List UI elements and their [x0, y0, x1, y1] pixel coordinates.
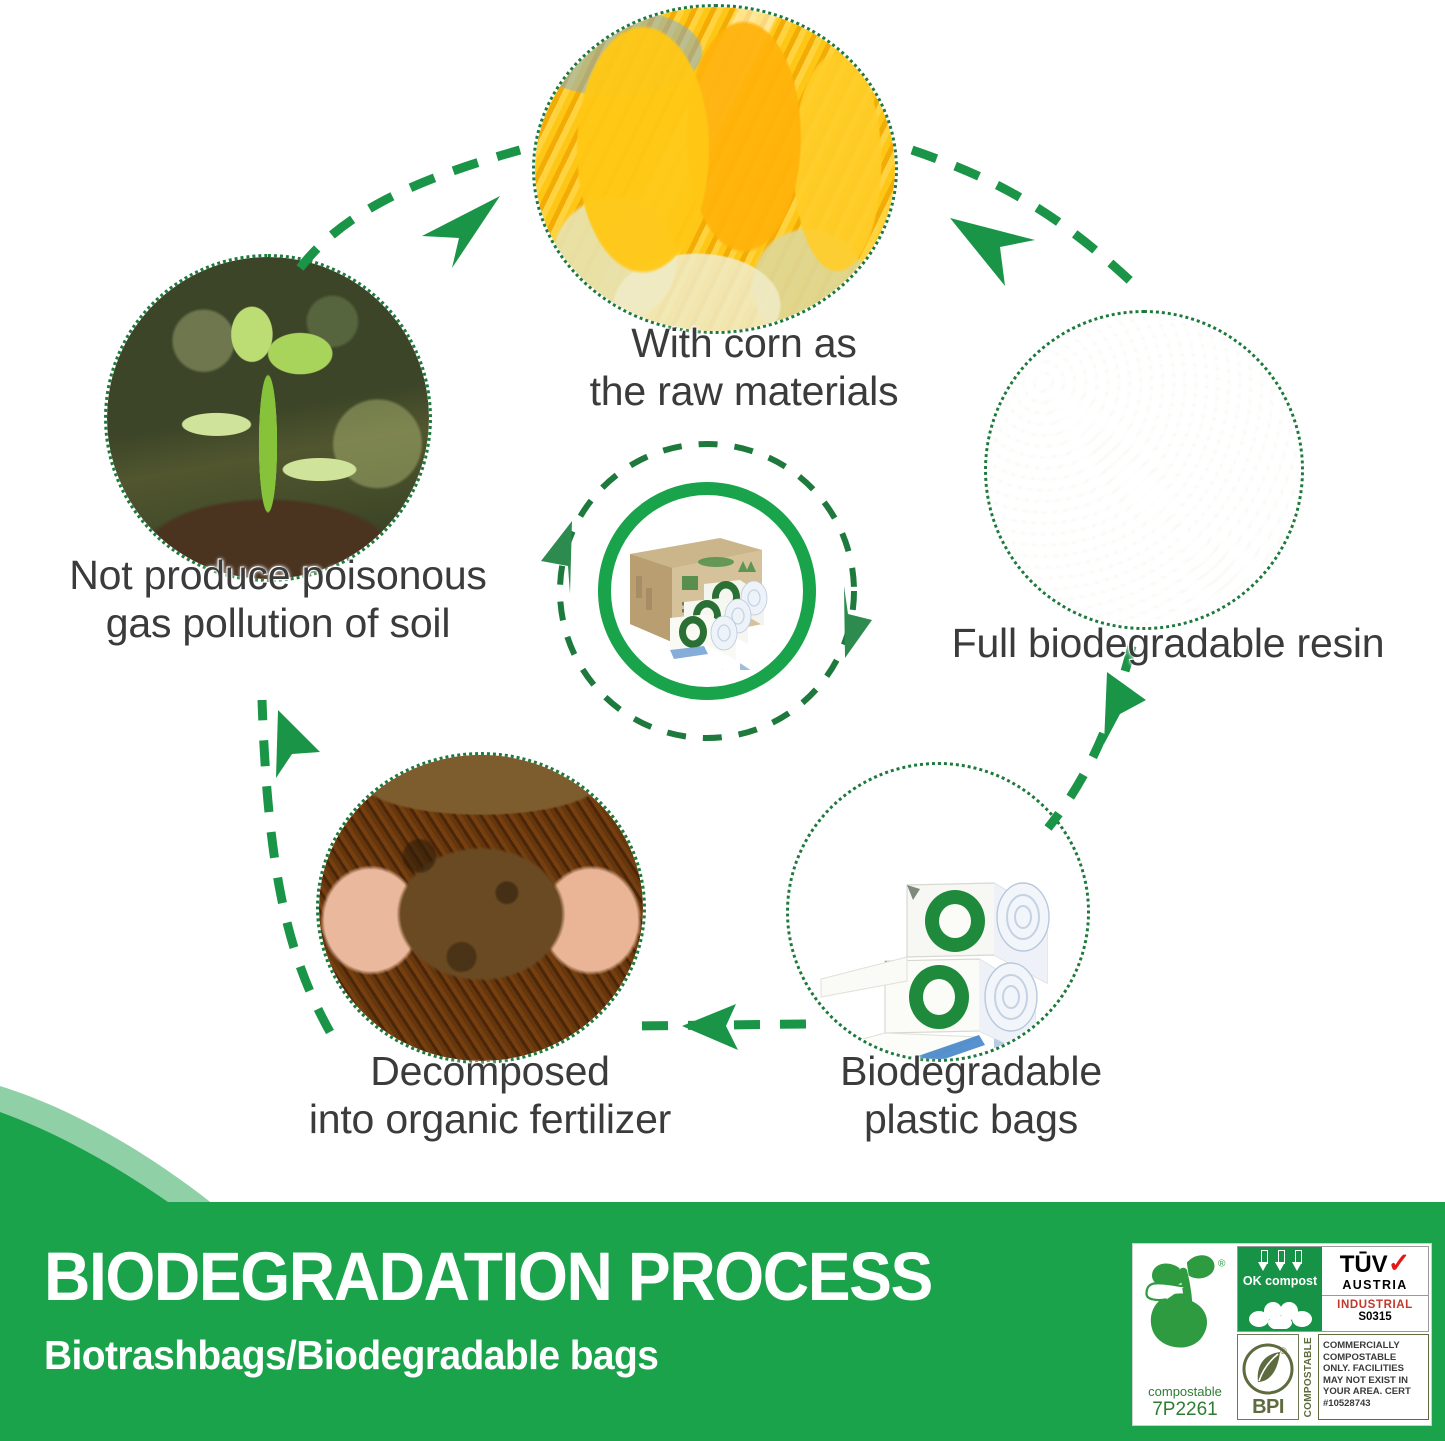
ok-compost-label: OK compost	[1243, 1274, 1317, 1288]
tuv-brand: TŪV	[1340, 1253, 1388, 1277]
circular-arrows-ring	[844, 586, 872, 658]
tuv-region: AUSTRIA	[1342, 1278, 1407, 1292]
cert-right-column: OK compost TŪV✓ AUSTRIA INDUST	[1237, 1244, 1431, 1425]
label-sprout: Not produce poisonous gas pollution of s…	[16, 552, 540, 647]
ok-compost-logo: OK compost	[1238, 1247, 1322, 1331]
seedling-compostable-logo: ®	[1139, 1248, 1231, 1358]
corn-cobs-photo	[535, 7, 895, 331]
flower-icon	[1247, 1299, 1313, 1329]
dashed-arrow-icon	[276, 710, 320, 778]
bpi-label: BPI	[1252, 1396, 1284, 1419]
hands-holding-soil-heart-photo	[319, 755, 643, 1061]
bpi-leaf-logo: ®	[1242, 1342, 1294, 1396]
tuv-austria-logo: TŪV✓ AUSTRIA INDUSTRIAL S0315	[1322, 1247, 1428, 1331]
label-resin: Full biodegradable resin	[890, 620, 1445, 668]
dashed-arrow-icon	[1104, 672, 1146, 744]
divider	[1322, 1295, 1428, 1296]
svg-text:®: ®	[1218, 1258, 1226, 1269]
title-block: BIODEGRADATION PROCESS Biotrashbags/Biod…	[44, 1242, 1114, 1379]
biodegradable-bag-rolls-photo	[789, 765, 1087, 1059]
cert-compostable-number: 7P2261	[1152, 1399, 1218, 1421]
seedling-sprout-photo	[107, 257, 429, 579]
three-down-arrows-icon	[1258, 1250, 1303, 1272]
page-subtitle: Biotrashbags/Biodegradable bags	[44, 1332, 1061, 1379]
node-bags-photo	[786, 762, 1090, 1062]
dashed-arrow-icon	[422, 196, 500, 268]
circular-arrows-ring	[541, 521, 572, 594]
label-corn: With corn as the raw materials	[534, 320, 954, 415]
tuv-code: S0315	[1358, 1311, 1391, 1323]
bpi-claim-text: COMMERCIALLY COMPOSTABLE ONLY. FACILITIE…	[1318, 1334, 1429, 1420]
white-resin-pellets-photo	[987, 313, 1301, 627]
ok-compost-tuv-block: OK compost TŪV✓ AUSTRIA INDUST	[1237, 1246, 1429, 1332]
seedling-cert-block: ® compostable 7P2261	[1133, 1244, 1237, 1425]
tuv-checkmark-icon: ✓	[1388, 1250, 1411, 1277]
bpi-block: ® BPI COMPOSTABLE COMMERCIALLY COMPOSTAB…	[1237, 1334, 1429, 1420]
certification-panel: ® compostable 7P2261 OK compost	[1132, 1243, 1432, 1426]
node-soil-photo	[316, 752, 646, 1064]
bpi-vertical-label: COMPOSTABLE	[1303, 1337, 1314, 1417]
infographic-canvas: With corn as the raw materials Full biod…	[0, 0, 1445, 1441]
bag-rolls-illustration	[789, 765, 1090, 1062]
node-resin-photo	[984, 310, 1304, 630]
cert-compostable-label: compostable	[1148, 1385, 1222, 1399]
bpi-logo: ® BPI	[1237, 1334, 1299, 1420]
page-title: BIODEGRADATION PROCESS	[44, 1242, 1039, 1311]
node-corn-photo	[532, 4, 898, 334]
node-sprout-photo	[104, 254, 432, 582]
product-box-with-bag-rolls	[612, 520, 812, 670]
bpi-vertical-label-wrap: COMPOSTABLE	[1301, 1334, 1316, 1420]
dashed-arrow-icon	[950, 218, 1035, 286]
tuv-grade: INDUSTRIAL	[1337, 1299, 1413, 1311]
svg-text:®: ®	[1280, 1346, 1287, 1356]
product-box-illustration	[612, 520, 812, 670]
